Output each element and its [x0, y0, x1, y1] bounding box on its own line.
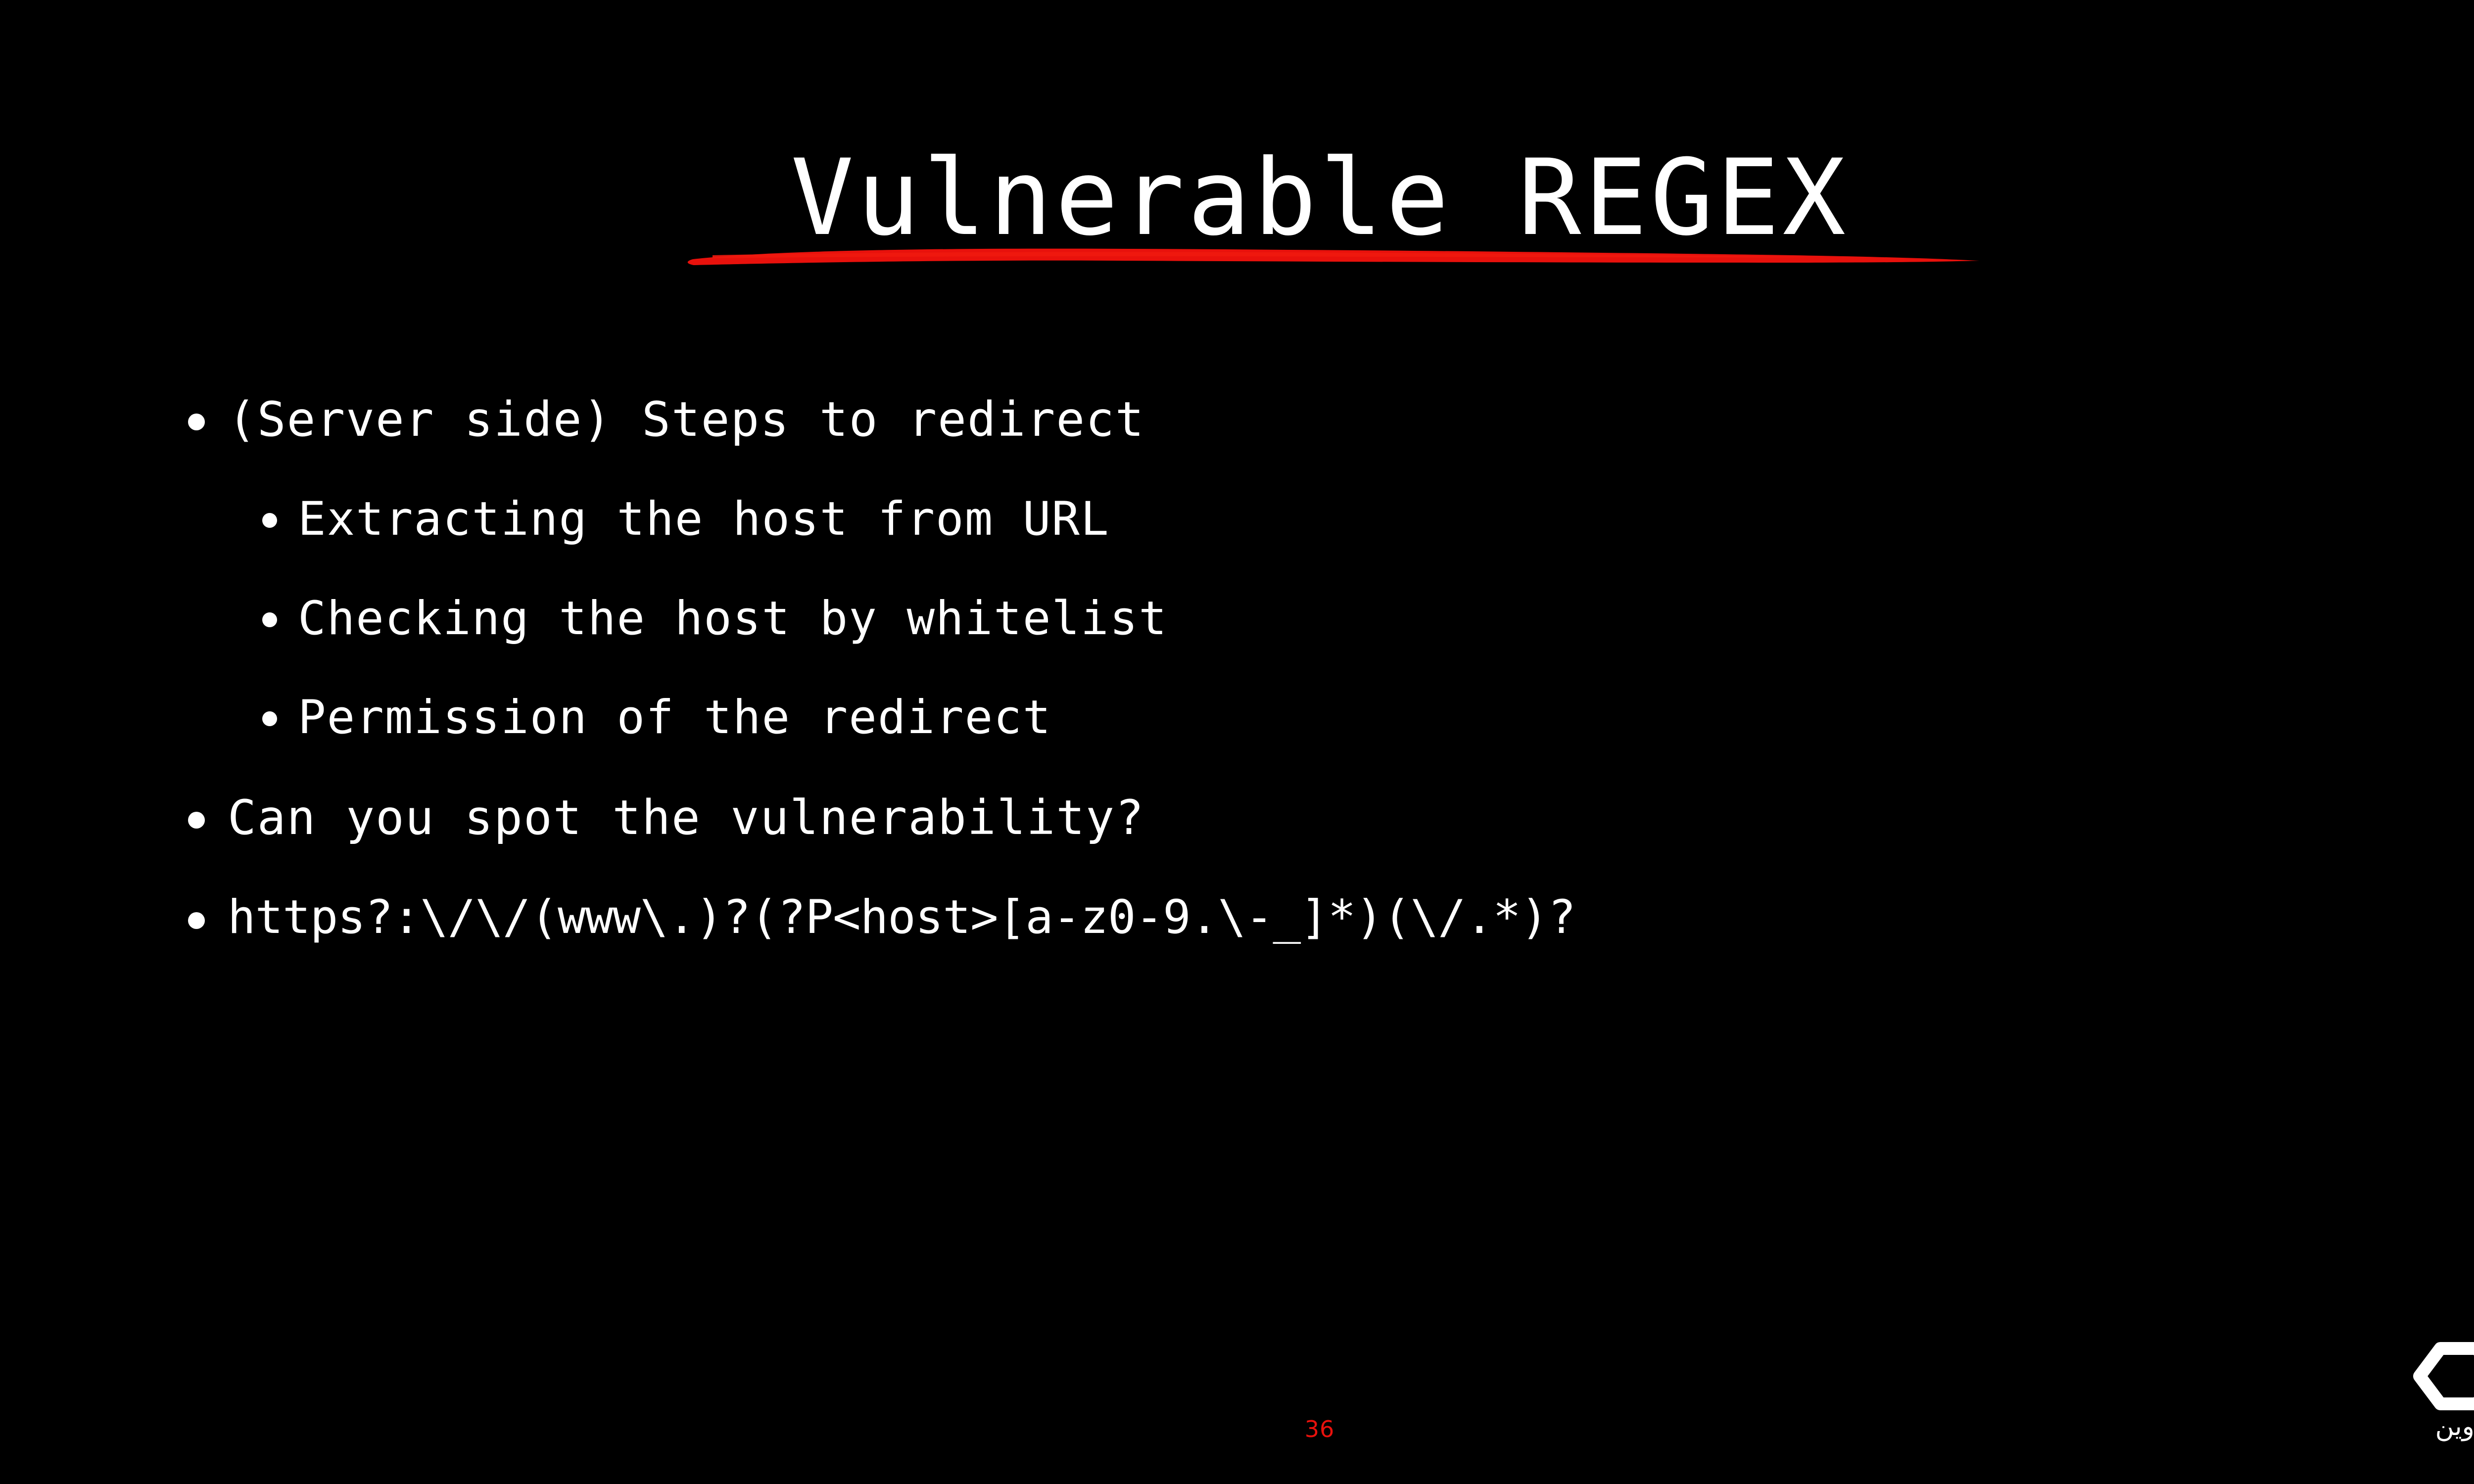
list-item-label: Checking the host by whitelist [298, 591, 1168, 648]
brand-logo: آکادمی راوین [2402, 1331, 2474, 1464]
brand-wordmark: آکادمی راوین [2402, 1414, 2474, 1439]
bullet-dot-icon [188, 812, 205, 829]
bullet-dot-icon [188, 414, 205, 430]
list-item-label: Extracting the host from URL [298, 491, 1110, 548]
list-item: Checking the host by whitelist [0, 591, 2474, 648]
bullet-dot-icon [262, 513, 277, 528]
infinity-icon [2402, 1331, 2474, 1422]
list-item-regex: https?:\/\/(www\.)?(?P<host>[a-z0-9.\-_]… [0, 889, 2474, 946]
regex-pattern-label: https?:\/\/(www\.)?(?P<host>[a-z0-9.\-_]… [228, 889, 1575, 946]
title-block: Vulnerable REGEX [0, 74, 2474, 322]
list-item: (Server side) Steps to redirect [0, 391, 2474, 449]
list-item-label: (Server side) Steps to redirect [228, 391, 1145, 449]
bullet-dot-icon [188, 912, 205, 929]
list-item-label: Permission of the redirect [298, 690, 1051, 746]
list-item: Permission of the redirect [0, 690, 2474, 746]
bullet-list: (Server side) Steps to redirect Extracti… [0, 391, 2474, 989]
list-item: Can you spot the vulnerability? [0, 789, 2474, 847]
list-item: Extracting the host from URL [0, 491, 2474, 548]
bullet-dot-icon [262, 711, 277, 726]
page-title: Vulnerable REGEX [791, 144, 1849, 251]
page-number: 36 [0, 1416, 2474, 1442]
list-item-label: Can you spot the vulnerability? [228, 789, 1145, 847]
slide-canvas: Vulnerable REGEX (Server side) Steps to … [0, 0, 2474, 1484]
bullet-dot-icon [262, 612, 277, 627]
